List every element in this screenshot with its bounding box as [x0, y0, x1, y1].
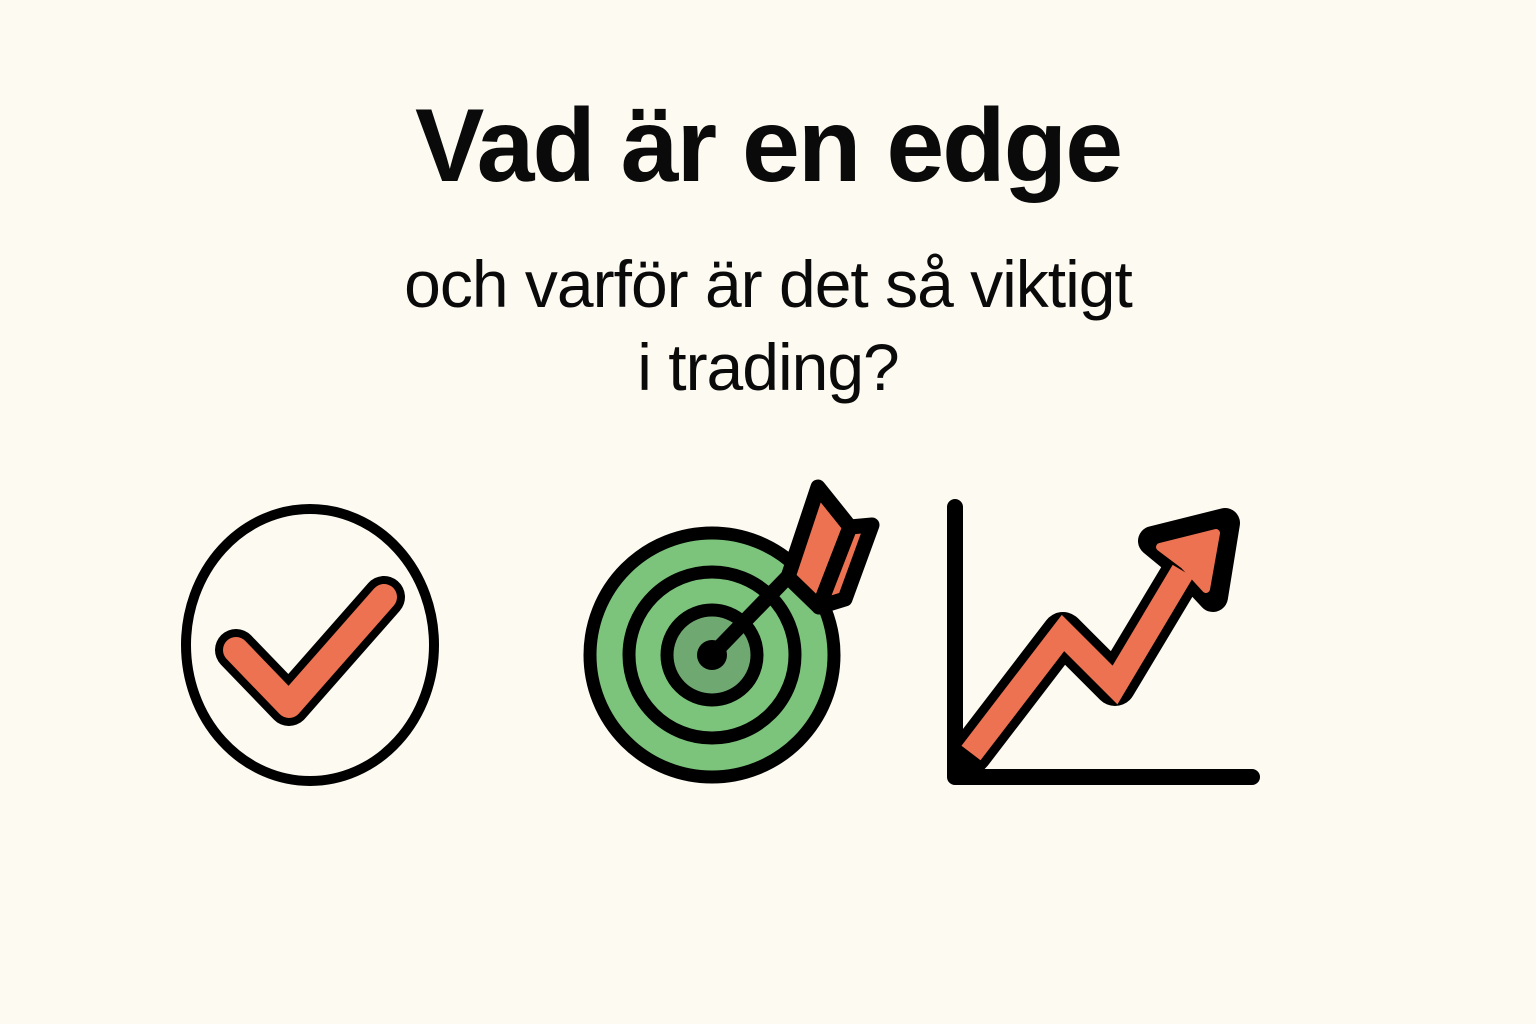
icon-row — [0, 455, 1536, 815]
check-circle-icon-svg — [160, 485, 460, 805]
growth-chart-icon — [925, 485, 1270, 805]
growth-chart-icon-svg — [925, 485, 1270, 805]
page-subtitle: och varför är det så viktigt i trading? — [0, 243, 1536, 409]
page-title: Vad är en edge — [0, 92, 1536, 200]
page-subtitle-line-1: och varför är det så viktigt — [0, 243, 1536, 326]
check-circle-icon — [160, 485, 460, 805]
poster-canvas: Vad är en edge och varför är det så vikt… — [0, 0, 1536, 1024]
target-center-dot — [697, 640, 727, 670]
target-with-arrow-icon — [560, 465, 880, 795]
target-with-arrow-icon-svg — [560, 465, 880, 795]
page-subtitle-line-2: i trading? — [0, 326, 1536, 409]
